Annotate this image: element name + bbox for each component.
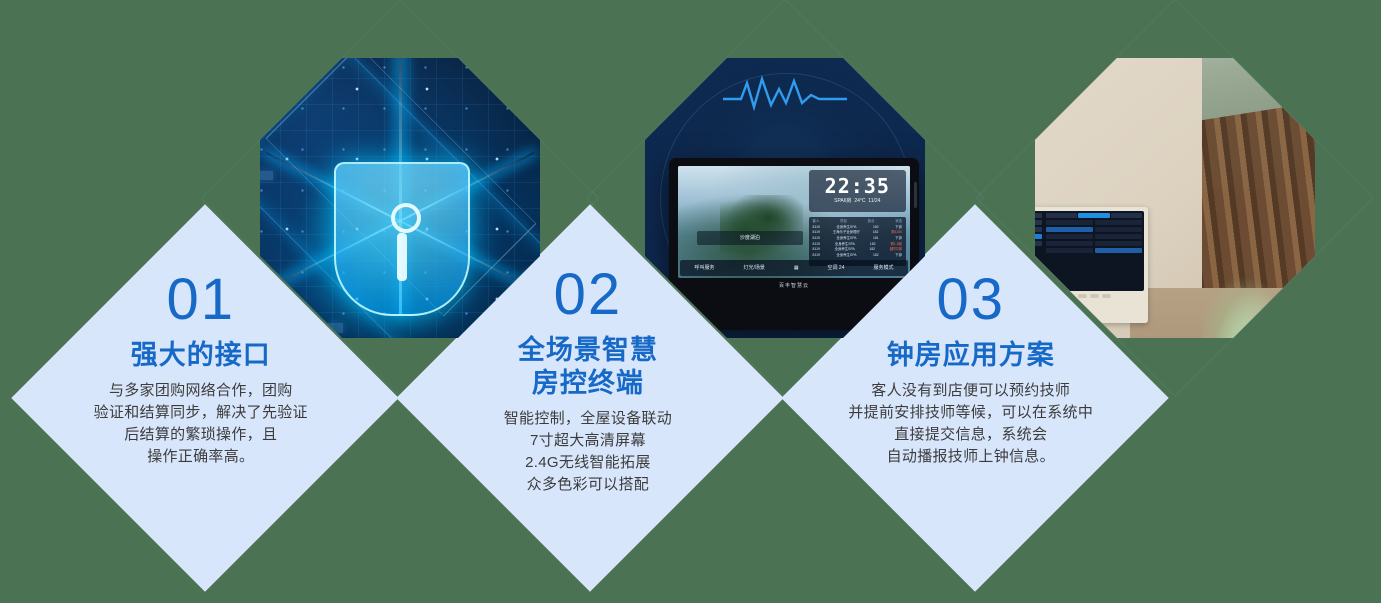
clock-time: 22:35 (825, 176, 890, 196)
list-item[interactable] (1095, 227, 1142, 232)
list-left[interactable] (1046, 220, 1093, 255)
tab-project-list[interactable] (1078, 213, 1109, 218)
table-row: 8119全身养生SPA182下钟 (811, 253, 904, 259)
hardware-key[interactable] (1102, 294, 1111, 298)
bottom-button-light[interactable]: 灯光/场景 (743, 264, 764, 271)
tablet-brand-label: 百丰智慧云 (678, 282, 910, 289)
media-label: 沙度湖泊 (740, 234, 760, 241)
bottom-button-call[interactable]: 呼叫服务 (694, 264, 714, 271)
list-item[interactable] (1095, 234, 1142, 239)
potted-plant-b (1256, 323, 1315, 338)
list-item[interactable] (1046, 248, 1093, 253)
list-item[interactable] (1046, 227, 1093, 232)
apps-grid-icon[interactable]: ▦ (794, 265, 799, 271)
bottom-button-ac[interactable]: 空调 24 (828, 264, 845, 271)
feature-card-3-title: 钟房应用方案 (806, 339, 1136, 372)
poster-stage: 01 强大的接口 与多家团购网络合作，团购 验证和结算同步，解决了先验证 后结算… (0, 0, 1381, 603)
shield-lock-icon (334, 162, 470, 316)
hardware-key[interactable] (1078, 294, 1087, 298)
list-item[interactable] (1095, 241, 1142, 246)
feature-card-2-title: 全场景智慧 房控终端 (438, 334, 738, 400)
tablet-screen[interactable]: 22:35 SPA6房 24°C 11/24 客人 项目 钟 (678, 166, 910, 278)
security-shield-circuit-image (260, 58, 540, 338)
side-item-tuizhong[interactable] (1035, 241, 1042, 246)
side-item-huanjishi[interactable] (1035, 234, 1042, 239)
tab-technician-list[interactable] (1046, 213, 1077, 218)
clock-widget: 22:35 SPA6房 24°C 11/24 (809, 170, 906, 213)
list-item[interactable] (1095, 220, 1142, 225)
feature-card-1-title: 强大的接口 (51, 339, 351, 372)
side-item-jiazhong[interactable] (1035, 227, 1042, 232)
list-right[interactable] (1095, 220, 1142, 255)
list-item[interactable] (1095, 248, 1142, 253)
list-item[interactable] (1046, 234, 1093, 239)
tab-service-record[interactable] (1111, 213, 1142, 218)
spa-corridor-wall-panel-image (1035, 58, 1315, 338)
media-control-bar[interactable]: 沙度湖泊 (697, 231, 804, 245)
wall-panel-tabs[interactable] (1046, 213, 1142, 218)
feature-card-3-description: 客人没有到店便可以预约技师 并提前安排技师等候，可以在系统中 直接提交信息，系统… (806, 380, 1136, 468)
temperature-label: 24°C (854, 198, 865, 204)
wall-panel-screen[interactable] (1035, 211, 1144, 291)
pulse-wave-icon (723, 73, 847, 113)
wall-panel-lists (1046, 220, 1142, 255)
feature-card-2-description: 智能控制，全屋设备联动 7寸超大高清屏幕 2.4G无线智能拓展 众多色彩可以搭配 (438, 408, 738, 496)
tablet-side-button[interactable] (914, 182, 917, 208)
list-item[interactable] (1046, 220, 1093, 225)
tablet-bottom-bar[interactable]: 呼叫服务 灯光/场景 ▦ 空调 24 服务模式 (680, 260, 908, 276)
smart-room-tablet-image: 22:35 SPA6房 24°C 11/24 客人 项目 钟 (645, 58, 925, 338)
date-label: 11/24 (868, 198, 880, 204)
wall-panel-main[interactable] (1044, 211, 1144, 291)
room-label: SPA6房 (834, 198, 851, 204)
hardware-key[interactable] (1090, 294, 1099, 298)
side-item-dianzhong[interactable] (1035, 213, 1042, 218)
bottom-button-service[interactable]: 服务模式 (873, 264, 893, 271)
potted-plant-a (1202, 270, 1310, 338)
side-item-callzhong[interactable] (1035, 220, 1042, 225)
list-item[interactable] (1046, 241, 1093, 246)
feature-card-1-description: 与多家团购网络合作，团购 验证和结算同步，解决了先验证 后结算的繁琐操作，且 操… (51, 380, 351, 468)
clock-meta: SPA6房 24°C 11/24 (834, 198, 880, 205)
